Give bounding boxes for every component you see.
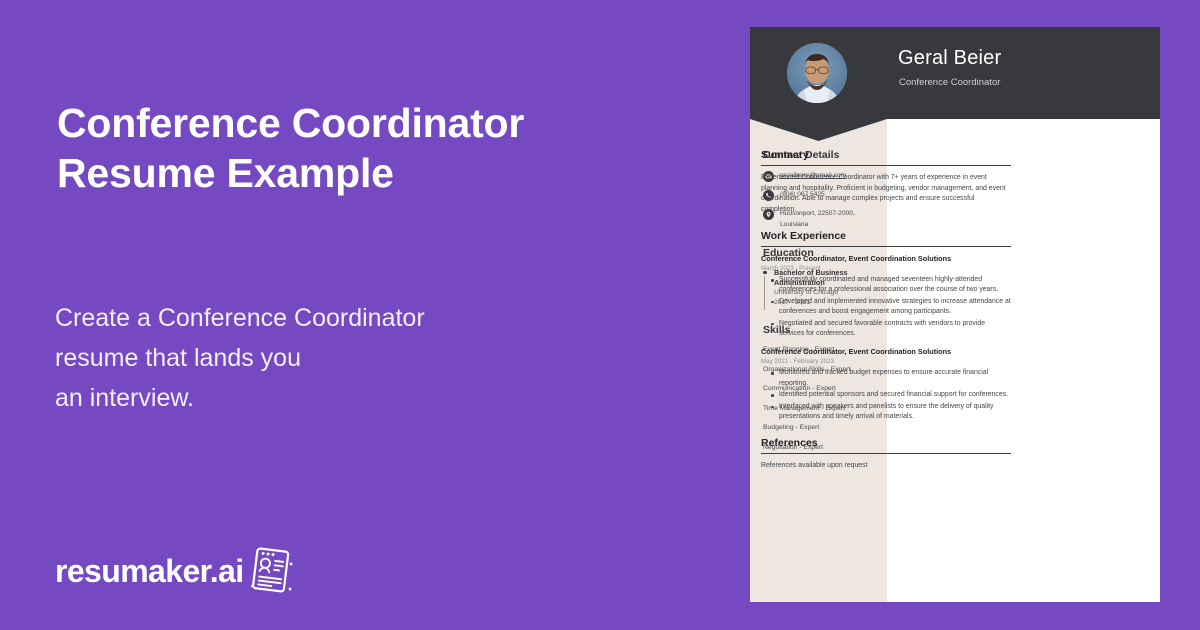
section-divider (761, 165, 1011, 166)
job-bullet-list: Monitored and tracked budget expenses to… (761, 368, 1011, 422)
job-entry: Conference Coordinator, Event Coordinati… (761, 254, 1011, 339)
job-bullet: Interfaced with speakers and panelists t… (779, 402, 1011, 423)
work-experience-section: Work Experience Conference Coordinator, … (761, 230, 1011, 422)
resume-preview[interactable]: Geral Beier Conference Coordinator Conta… (750, 27, 1160, 602)
job-bullet: Negotiated and secured favorable contrac… (779, 319, 1011, 340)
job-bullet: Developed and implemented innovative str… (779, 297, 1011, 318)
promo-panel: Conference Coordinator Resume Example Cr… (0, 0, 750, 630)
job-date: March 2023 - Present (761, 264, 1011, 273)
job-bullet: Identified potential sponsors and secure… (779, 390, 1011, 400)
promo-card: Conference Coordinator Resume Example Cr… (0, 0, 1200, 630)
job-bullet-list: Successfully coordinated and managed sev… (761, 275, 1011, 339)
job-title: Conference Coordinator, Event Coordinati… (761, 254, 1011, 264)
resume-role: Conference Coordinator (899, 77, 1000, 88)
resume-header: Geral Beier Conference Coordinator (750, 27, 1160, 119)
work-experience-heading: Work Experience (761, 230, 1011, 242)
job-bullet: Monitored and tracked budget expenses to… (779, 368, 1011, 389)
avatar (787, 43, 847, 103)
brand-logo-text: resumaker.ai (55, 555, 244, 587)
job-entry: Conference Coordinator, Event Coordinati… (761, 347, 1011, 422)
resume-main-content: Summary Experienced Conference Coordinat… (761, 149, 1011, 487)
job-title: Conference Coordinator, Event Coordinati… (761, 347, 1011, 357)
references-section: References References available upon req… (761, 437, 1011, 472)
summary-section: Summary Experienced Conference Coordinat… (761, 149, 1011, 215)
references-text: References available upon request (761, 461, 1011, 472)
references-heading: References (761, 437, 1011, 449)
section-divider (761, 453, 1011, 454)
summary-heading: Summary (761, 149, 1011, 161)
resume-document-icon (247, 546, 295, 596)
page-title: Conference Coordinator Resume Example (57, 98, 677, 198)
brand-logo[interactable]: resumaker.ai (55, 546, 295, 596)
job-date: May 2021 - February 2023 (761, 357, 1011, 366)
summary-text: Experienced Conference Coordinator with … (761, 173, 1011, 215)
job-bullet: Successfully coordinated and managed sev… (779, 275, 1011, 296)
section-divider (761, 246, 1011, 247)
resume-name: Geral Beier (898, 47, 1001, 70)
promo-subtitle: Create a Conference Coordinator resume t… (55, 298, 675, 418)
